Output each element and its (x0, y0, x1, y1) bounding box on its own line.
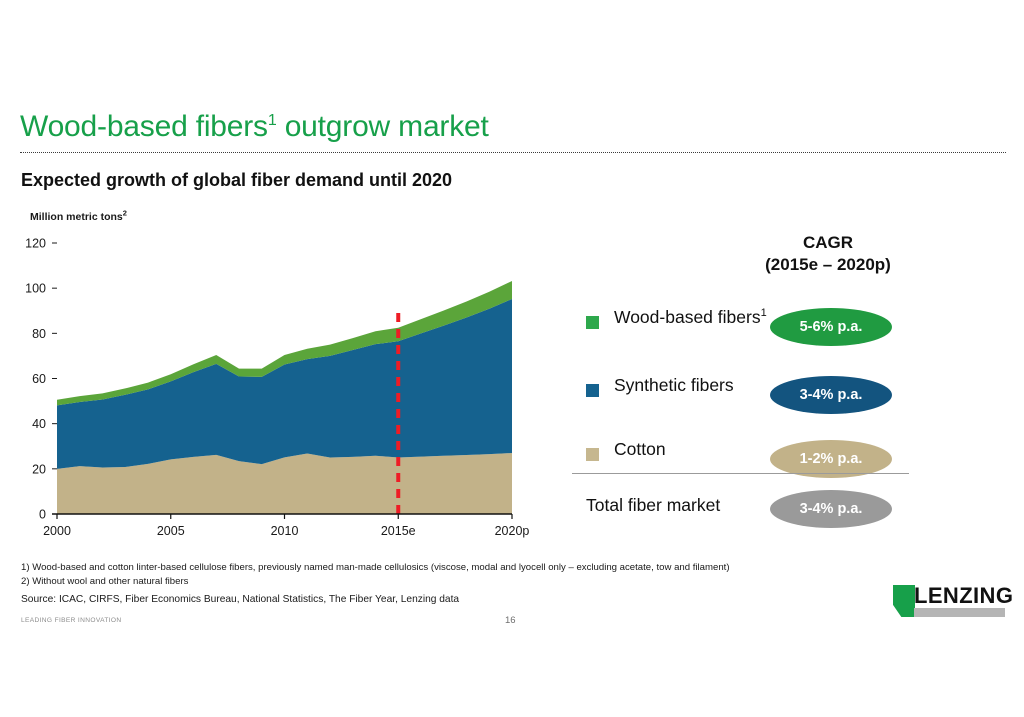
chart-svg: 020406080100120 2000200520102015e2020p (0, 225, 560, 545)
chart-unit-label: Million metric tons2 (30, 211, 127, 223)
cagr-pill-wood-based-fibers: 5-6% p.a. (770, 308, 892, 346)
y-axis-ticks: 020406080100120 (25, 237, 57, 522)
stacked-area-chart: 020406080100120 2000200520102015e2020p (0, 225, 560, 545)
cagr-pill-synthetic-fibers: 3-4% p.a. (770, 376, 892, 414)
x-tick-label: 2020p (495, 524, 530, 538)
footnotes: 1) Wood-based and cotton linter-based ce… (21, 561, 881, 589)
cagr-heading-line1: CAGR (700, 232, 956, 254)
x-tick-label: 2010 (271, 524, 299, 538)
page-title: Wood-based fibers1 outgrow market (20, 110, 489, 144)
legend-label-text: Cotton (614, 439, 666, 459)
chart-unit-superscript: 2 (123, 209, 127, 218)
lenzing-logo: LENZING (893, 585, 1005, 617)
page-title-tail: outgrow market (277, 110, 489, 143)
subtitle: Expected growth of global fiber demand u… (21, 170, 452, 191)
cagr-pill-total-fiber-market: 3-4% p.a. (770, 490, 892, 528)
logo-bar (914, 608, 1005, 617)
total-fiber-market-row: Total fiber market 3-4% p.a. (586, 488, 931, 530)
cagr-heading: CAGR (2015e – 2020p) (700, 232, 956, 276)
x-tick-label: 2015e (381, 524, 416, 538)
footer-tagline: LEADING FIBER INNOVATION (21, 617, 121, 624)
total-fiber-market-label: Total fiber market (586, 495, 720, 516)
page-title-main: Wood-based fibers (20, 110, 268, 143)
y-tick-label: 60 (32, 372, 46, 386)
legend-label-text: Synthetic fibers (614, 375, 734, 395)
footnote-2: 2) Without wool and other natural fibers (21, 575, 881, 589)
legend-row-wood-based-fibers: Wood-based fibers1 5-6% p.a. (586, 306, 931, 362)
total-separator (572, 473, 909, 474)
footnote-1: 1) Wood-based and cotton linter-based ce… (21, 561, 881, 575)
y-tick-label: 100 (25, 282, 46, 296)
logo-wordmark: LENZING (914, 585, 1013, 607)
chart-unit-text: Million metric tons (30, 211, 123, 223)
y-tick-label: 80 (32, 327, 46, 341)
x-tick-label: 2000 (43, 524, 71, 538)
legend-swatch-cotton (586, 448, 599, 461)
x-tick-label: 2005 (157, 524, 185, 538)
legend-swatch-wood-based-fibers (586, 316, 599, 329)
logo-mark-icon (893, 585, 915, 617)
legend-label-wood-based-fibers: Wood-based fibers1 (614, 306, 789, 329)
chart-series-areas (57, 281, 512, 514)
y-tick-label: 0 (39, 508, 46, 522)
legend-label-cotton: Cotton (614, 438, 789, 461)
legend-label-text: Wood-based fibers (614, 307, 761, 327)
legend-label-superscript: 1 (761, 307, 767, 319)
legend-row-synthetic-fibers: Synthetic fibers 3-4% p.a. (586, 374, 931, 430)
x-axis-ticks: 2000200520102015e2020p (43, 514, 529, 538)
source-line: Source: ICAC, CIRFS, Fiber Economics Bur… (21, 594, 459, 605)
title-divider (20, 152, 1006, 153)
cagr-heading-line2: (2015e – 2020p) (700, 254, 956, 276)
y-tick-label: 120 (25, 237, 46, 251)
legend-label-synthetic-fibers: Synthetic fibers (614, 374, 789, 397)
legend-row-cotton: Cotton 1-2% p.a. (586, 438, 931, 494)
y-tick-label: 40 (32, 417, 46, 431)
page-title-superscript: 1 (268, 112, 277, 129)
y-tick-label: 20 (32, 462, 46, 476)
legend-swatch-synthetic-fibers (586, 384, 599, 397)
slide-canvas: Wood-based fibers1 outgrow market Expect… (0, 0, 1024, 717)
page-number: 16 (505, 615, 516, 626)
